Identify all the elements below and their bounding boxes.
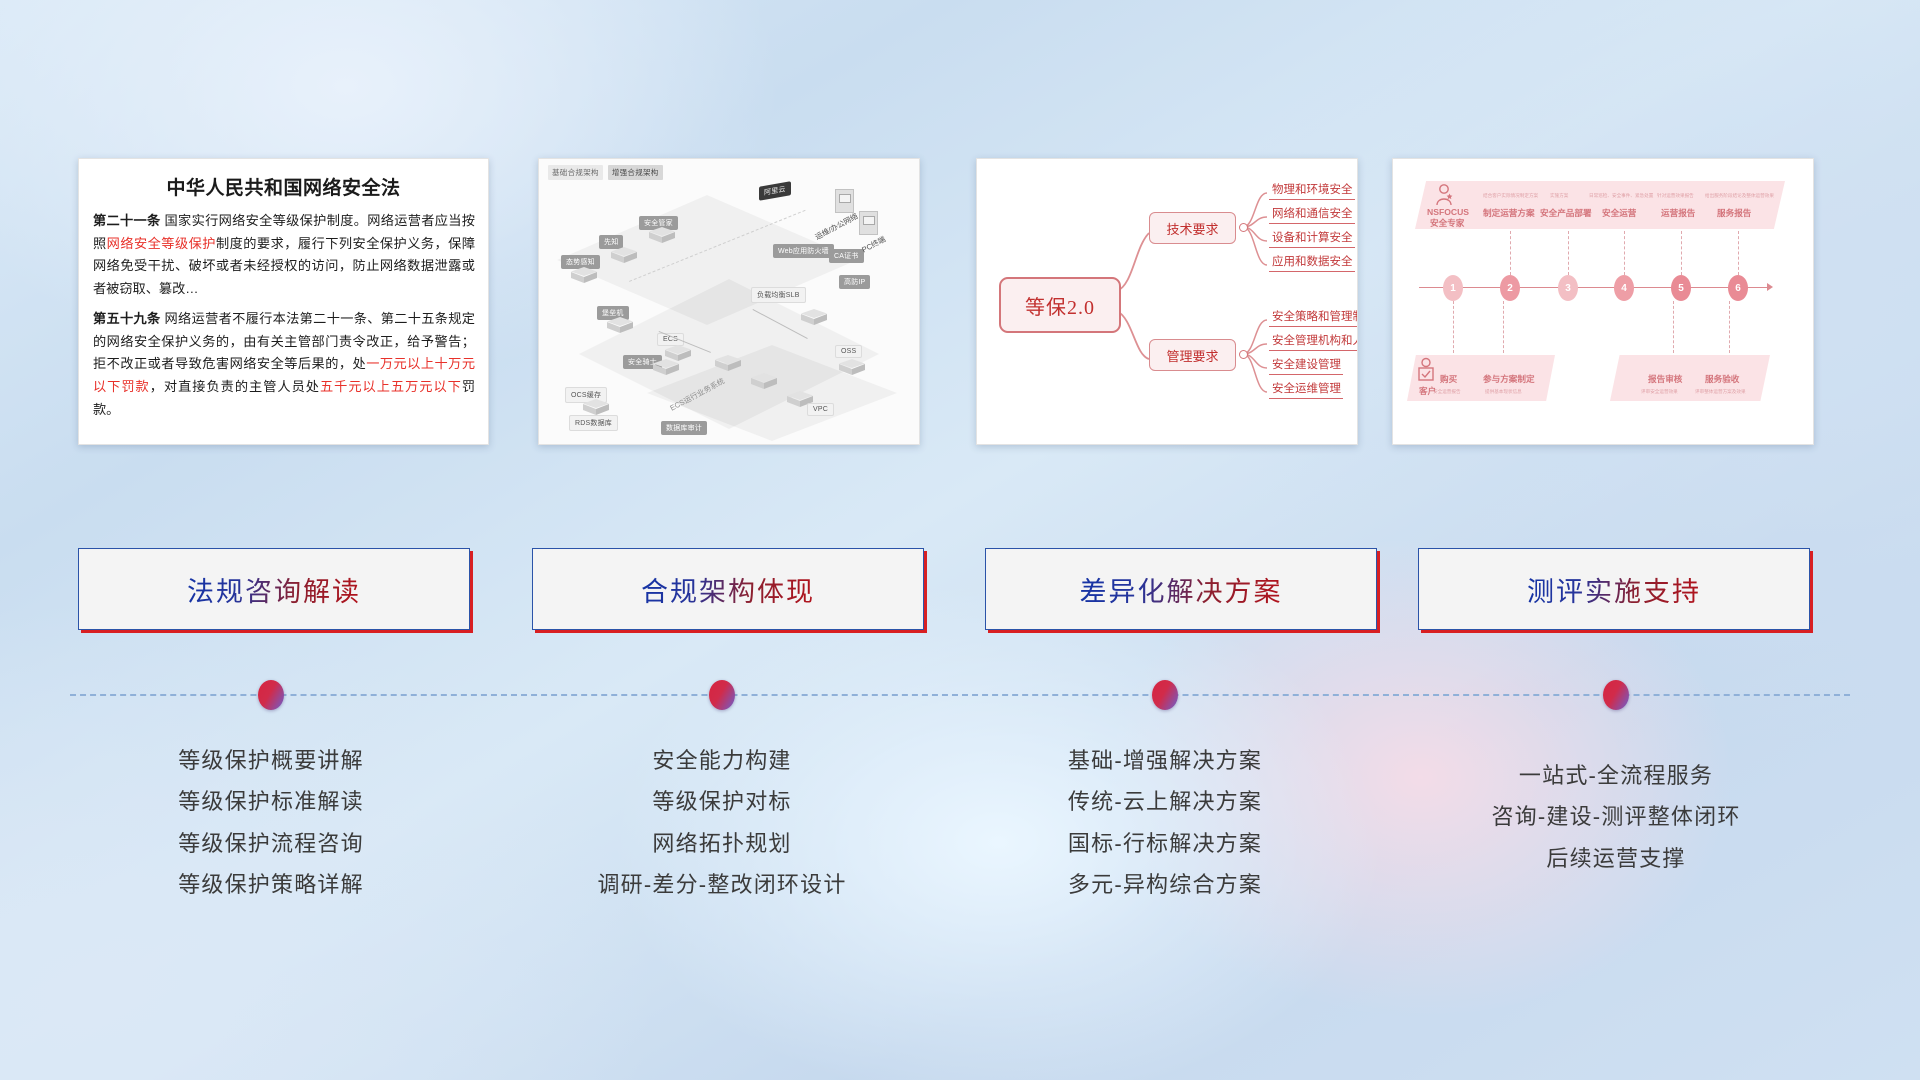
list-item: 等级保护策略详解	[61, 864, 481, 905]
feature-list-3: 基础-增强解决方案 传统-云上解决方案 国标-行标解决方案 多元-异构综合方案	[955, 740, 1375, 905]
step-2-bottom-sub: 提供基本现状信息	[1485, 389, 1522, 395]
node-anti-ddos-ip: 高防IP	[839, 275, 870, 289]
expert-label-line1: NSFOCUS	[1427, 207, 1469, 217]
section-title-label-4: 测评实施支持	[1527, 570, 1701, 609]
section-title-box-3[interactable]: 差异化解决方案	[985, 548, 1377, 630]
node-pc-terminal: PC终端	[860, 234, 888, 256]
feature-list-4: 一站式-全流程服务 咨询-建设-测评整体闭环 后续运营支撑	[1406, 755, 1826, 879]
cube-icon-9	[751, 373, 777, 391]
list-item: 基础-增强解决方案	[955, 740, 1375, 781]
step-5-bottom-sub: 评审安全运营效果	[1641, 389, 1678, 395]
process-node-3: 3	[1558, 275, 1578, 301]
mindmap-core-node: 等保2.0	[999, 277, 1121, 333]
node-oss: OSS	[835, 345, 862, 358]
process-node-4: 4	[1614, 275, 1634, 301]
timeline-marker-4[interactable]	[1603, 680, 1629, 710]
cube-icon-12	[839, 359, 865, 377]
step-3-top-sub: 实施方案	[1550, 193, 1568, 199]
timeline-marker-1[interactable]	[258, 680, 284, 710]
mindmap-leaf-tech-1: 网络和通信安全	[1269, 205, 1355, 224]
process-tick-4	[1624, 231, 1625, 275]
list-item: 等级保护概要讲解	[61, 740, 481, 781]
mindmap-leaf-tech-3: 应用和数据安全	[1269, 253, 1355, 272]
section-title-label-2: 合规架构体现	[641, 570, 815, 609]
process-tick-6-top	[1738, 231, 1739, 275]
expert-label-line2: 安全专家	[1430, 217, 1464, 229]
process-axis-line	[1419, 287, 1769, 288]
step-6-top-sub: 给出服务阶段结论及整体运营效果	[1705, 193, 1774, 199]
customer-band-right	[1610, 355, 1770, 401]
expert-band	[1415, 181, 1785, 229]
process-tick-3	[1568, 231, 1569, 275]
node-ca-cert: CA证书	[829, 249, 864, 263]
law-article-59-label: 第五十九条	[93, 311, 161, 326]
step-5-top-sub: 针对运营效果报告	[1657, 193, 1694, 199]
mindmap-leaf-mgmt-2: 安全建设管理	[1269, 356, 1343, 375]
architecture-diagram-card: 基础合规架构 增强合规架构 阿里云 安全管家 先知 态势感知 堡垒机 安全骑士 …	[538, 158, 920, 445]
node-slb: 负载均衡SLB	[751, 287, 806, 303]
service-process-canvas: NSFOCUS 安全专家 客户 1 购买 安全运营报告 2 制定运营方案 结合客…	[1393, 159, 1813, 444]
law-article-21-label: 第二十一条	[93, 213, 161, 228]
mindmap-leaf-tech-0: 物理和环境安全	[1269, 181, 1355, 200]
mindmap-canvas: 等保2.0 技术要求 物理和环境安全 网络和通信安全 设备和计算安全 应用和数据…	[977, 159, 1357, 444]
process-node-1: 1	[1443, 275, 1463, 301]
slide-root: 中华人民共和国网络安全法 第二十一条 国家实行网络安全等级保护制度。网络运营者应…	[0, 0, 1920, 1080]
law-article-59-text: 网络运营者不履行本法第二十一条、第二十五条规定的网络安全保护义务的，由有关主管部…	[93, 311, 475, 417]
list-item: 咨询-建设-测评整体闭环	[1406, 796, 1826, 837]
law-text-card: 中华人民共和国网络安全法 第二十一条 国家实行网络安全等级保护制度。网络运营者应…	[78, 158, 489, 445]
process-tick-6-bottom	[1729, 301, 1730, 353]
process-node-2: 2	[1500, 275, 1520, 301]
list-item: 等级保护标准解读	[61, 781, 481, 822]
list-item: 多元-异构综合方案	[955, 864, 1375, 905]
process-axis-arrow	[1767, 283, 1773, 291]
step-4-top-sub: 日常巡检、安全事件、紧急处置	[1589, 193, 1653, 199]
list-item: 等级保护流程咨询	[61, 823, 481, 864]
timeline-dashed-line	[70, 694, 1850, 696]
customer-person-icon	[1415, 357, 1437, 388]
process-node-5: 5	[1671, 275, 1691, 301]
service-process-card: NSFOCUS 安全专家 客户 1 购买 安全运营报告 2 制定运营方案 结合客…	[1392, 158, 1814, 445]
law-card-title: 中华人民共和国网络安全法	[79, 173, 488, 200]
list-item: 安全能力构建	[512, 740, 932, 781]
cube-icon-1	[649, 227, 675, 245]
step-6-bottom-main: 服务验收	[1705, 373, 1739, 385]
process-tick-5-top	[1681, 231, 1682, 275]
architecture-tab-enhanced[interactable]: 增强合规架构	[608, 165, 663, 180]
feature-list-1: 等级保护概要讲解 等级保护标准解读 等级保护流程咨询 等级保护策略详解	[61, 740, 481, 905]
law-card-body: 第二十一条 国家实行网络安全等级保护制度。网络运营者应当按照网络安全等级保护制度…	[79, 210, 488, 421]
cube-icon-4	[607, 317, 633, 335]
list-item: 后续运营支撑	[1406, 838, 1826, 879]
section-title-box-4[interactable]: 测评实施支持	[1418, 548, 1810, 630]
server-icon-pc	[859, 211, 878, 235]
process-tick-2-top	[1510, 231, 1511, 275]
cube-icon-7	[665, 345, 691, 363]
section-title-box-1[interactable]: 法规咨询解读	[78, 548, 470, 630]
step-6-bottom-sub: 评审整体运营方案及效果	[1695, 389, 1746, 395]
mindmap-leaf-mgmt-1: 安全管理机构和人员	[1269, 332, 1358, 351]
mindmap-card: 等保2.0 技术要求 物理和环境安全 网络和通信安全 设备和计算安全 应用和数据…	[976, 158, 1358, 445]
step-1-bottom-sub: 安全运营报告	[1433, 389, 1461, 395]
step-3-top-main: 安全产品部署	[1540, 207, 1592, 219]
mindmap-leaf-mgmt-3: 安全运维管理	[1269, 380, 1343, 399]
architecture-tab-basic[interactable]: 基础合规架构	[548, 165, 603, 180]
architecture-tab-group[interactable]: 基础合规架构 增强合规架构	[548, 165, 663, 180]
step-5-bottom-main: 报告审核	[1648, 373, 1682, 385]
node-web-waf: Web应用防火墙	[773, 244, 834, 258]
mindmap-toggle-technical[interactable]	[1239, 223, 1248, 232]
list-item: 国标-行标解决方案	[955, 823, 1375, 864]
node-vpc: VPC	[807, 403, 834, 416]
step-1-bottom-main: 购买	[1440, 373, 1457, 385]
mindmap-leaf-tech-2: 设备和计算安全	[1269, 229, 1355, 248]
step-2-bottom-main: 参与方案制定	[1483, 373, 1535, 385]
law-article-59: 第五十九条 网络运营者不履行本法第二十一条、第二十五条规定的网络安全保护义务的，…	[93, 308, 475, 422]
process-node-6: 6	[1728, 275, 1748, 301]
server-icon-office	[835, 189, 854, 213]
step-6-top-main: 服务报告	[1717, 207, 1751, 219]
section-title-label-1: 法规咨询解读	[187, 570, 361, 609]
law-article-21: 第二十一条 国家实行网络安全等级保护制度。网络运营者应当按照网络安全等级保护制度…	[93, 210, 475, 301]
list-item: 一站式-全流程服务	[1406, 755, 1826, 796]
list-item: 等级保护对标	[512, 781, 932, 822]
process-tick-5-bottom	[1673, 301, 1674, 353]
node-rds-database: RDS数据库	[569, 415, 618, 431]
step-5-top-main: 运营报告	[1661, 207, 1695, 219]
node-aliyun: 阿里云	[759, 181, 791, 201]
mindmap-leaf-mgmt-0: 安全策略和管理制度	[1269, 308, 1358, 327]
cube-icon-8	[715, 355, 741, 373]
timeline-marker-2[interactable]	[709, 680, 735, 710]
cube-icon-2	[611, 247, 637, 265]
step-2-top-main: 制定运营方案	[1483, 207, 1535, 219]
mindmap-toggle-management[interactable]	[1239, 350, 1248, 359]
section-title-box-2[interactable]: 合规架构体现	[532, 548, 924, 630]
cube-icon-11	[801, 309, 827, 327]
list-item: 调研-差分-整改闭环设计	[512, 864, 932, 905]
cube-icon-3	[571, 267, 597, 285]
mindmap-branch-technical: 技术要求	[1149, 212, 1236, 244]
node-db-audit: 数据库审计	[661, 421, 707, 435]
process-tick-1	[1453, 301, 1454, 353]
timeline-marker-3[interactable]	[1152, 680, 1178, 710]
section-title-label-3: 差异化解决方案	[1080, 570, 1283, 609]
list-item: 传统-云上解决方案	[955, 781, 1375, 822]
node-office-network: 运维/办公网络	[813, 211, 860, 243]
architecture-canvas: 基础合规架构 增强合规架构 阿里云 安全管家 先知 态势感知 堡垒机 安全骑士 …	[539, 159, 919, 444]
list-item: 网络拓扑规划	[512, 823, 932, 864]
process-tick-2-bottom	[1503, 301, 1504, 353]
step-2-top-sub: 结合客户实际情况制定方案	[1483, 193, 1538, 199]
feature-list-2: 安全能力构建 等级保护对标 网络拓扑规划 调研-差分-整改闭环设计	[512, 740, 932, 905]
step-4-top-main: 安全运营	[1602, 207, 1636, 219]
mindmap-branch-management: 管理要求	[1149, 339, 1236, 371]
